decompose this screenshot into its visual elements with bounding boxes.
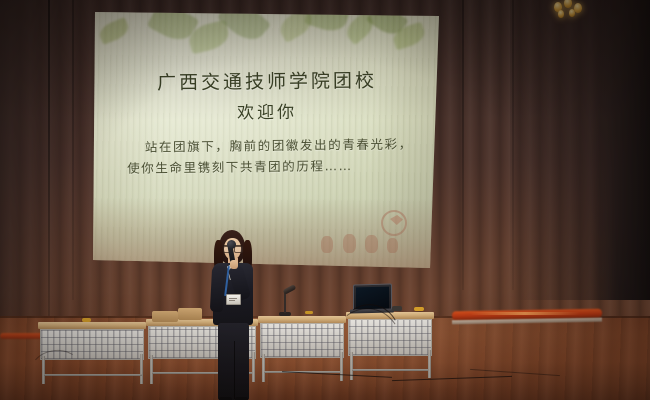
trouser-seam xyxy=(234,341,235,399)
chandelier-bulb xyxy=(558,10,564,18)
curtain-seam xyxy=(462,0,464,290)
screen-bottom-shading xyxy=(93,198,441,268)
chandelier-light-fixture xyxy=(544,0,598,22)
table-object-yellow xyxy=(305,311,313,314)
speaker-arm-left xyxy=(210,266,225,313)
table-leg xyxy=(140,354,143,384)
glasses-lens-right xyxy=(234,246,243,253)
handheld-microphone-head xyxy=(227,240,236,249)
auditorium-stage-photo: 广西交通技师学院团校 欢迎你 站在团旗下，胸前的团徽发出的青春光彩，使你生命里镌… xyxy=(0,0,650,400)
slide-title-line-2: 欢迎你 xyxy=(93,96,441,125)
chandelier-bulb xyxy=(564,0,572,8)
table-leg xyxy=(150,355,153,384)
chair-backrest xyxy=(178,308,202,320)
table-leg xyxy=(262,354,265,382)
curtain-seam xyxy=(48,0,50,330)
table-leg xyxy=(428,350,431,378)
badge-text-line xyxy=(229,298,237,299)
curtain-black-column xyxy=(592,0,650,300)
slide-title-line-1: 广西交通技师学院团校 xyxy=(93,65,441,96)
chair-backrest xyxy=(152,311,178,322)
slide-body-text: 站在团旗下，胸前的团徽发出的青春光彩，使你生命里镌刻下共青团的历程…… xyxy=(127,133,423,179)
curtain-seam xyxy=(512,0,514,290)
table-object-yellow xyxy=(414,307,424,311)
speaker-presenter xyxy=(205,230,261,400)
chandelier-bulb xyxy=(574,3,582,13)
red-skirt-highlight xyxy=(470,312,580,315)
speaker-name-badge xyxy=(226,294,241,305)
table-object-yellow xyxy=(82,318,91,322)
speaker-hand xyxy=(230,260,238,269)
projection-screen: 广西交通技师学院团校 欢迎你 站在团旗下，胸前的团徽发出的青春光彩，使你生命里镌… xyxy=(93,12,441,268)
speaker-trousers xyxy=(218,323,249,400)
table-top-surface xyxy=(38,322,146,329)
laptop-mouse xyxy=(392,306,402,311)
badge-text-line xyxy=(229,300,235,301)
table-top-surface xyxy=(258,316,346,323)
curtain-seam xyxy=(72,0,74,300)
chandelier-bulb xyxy=(569,9,575,17)
